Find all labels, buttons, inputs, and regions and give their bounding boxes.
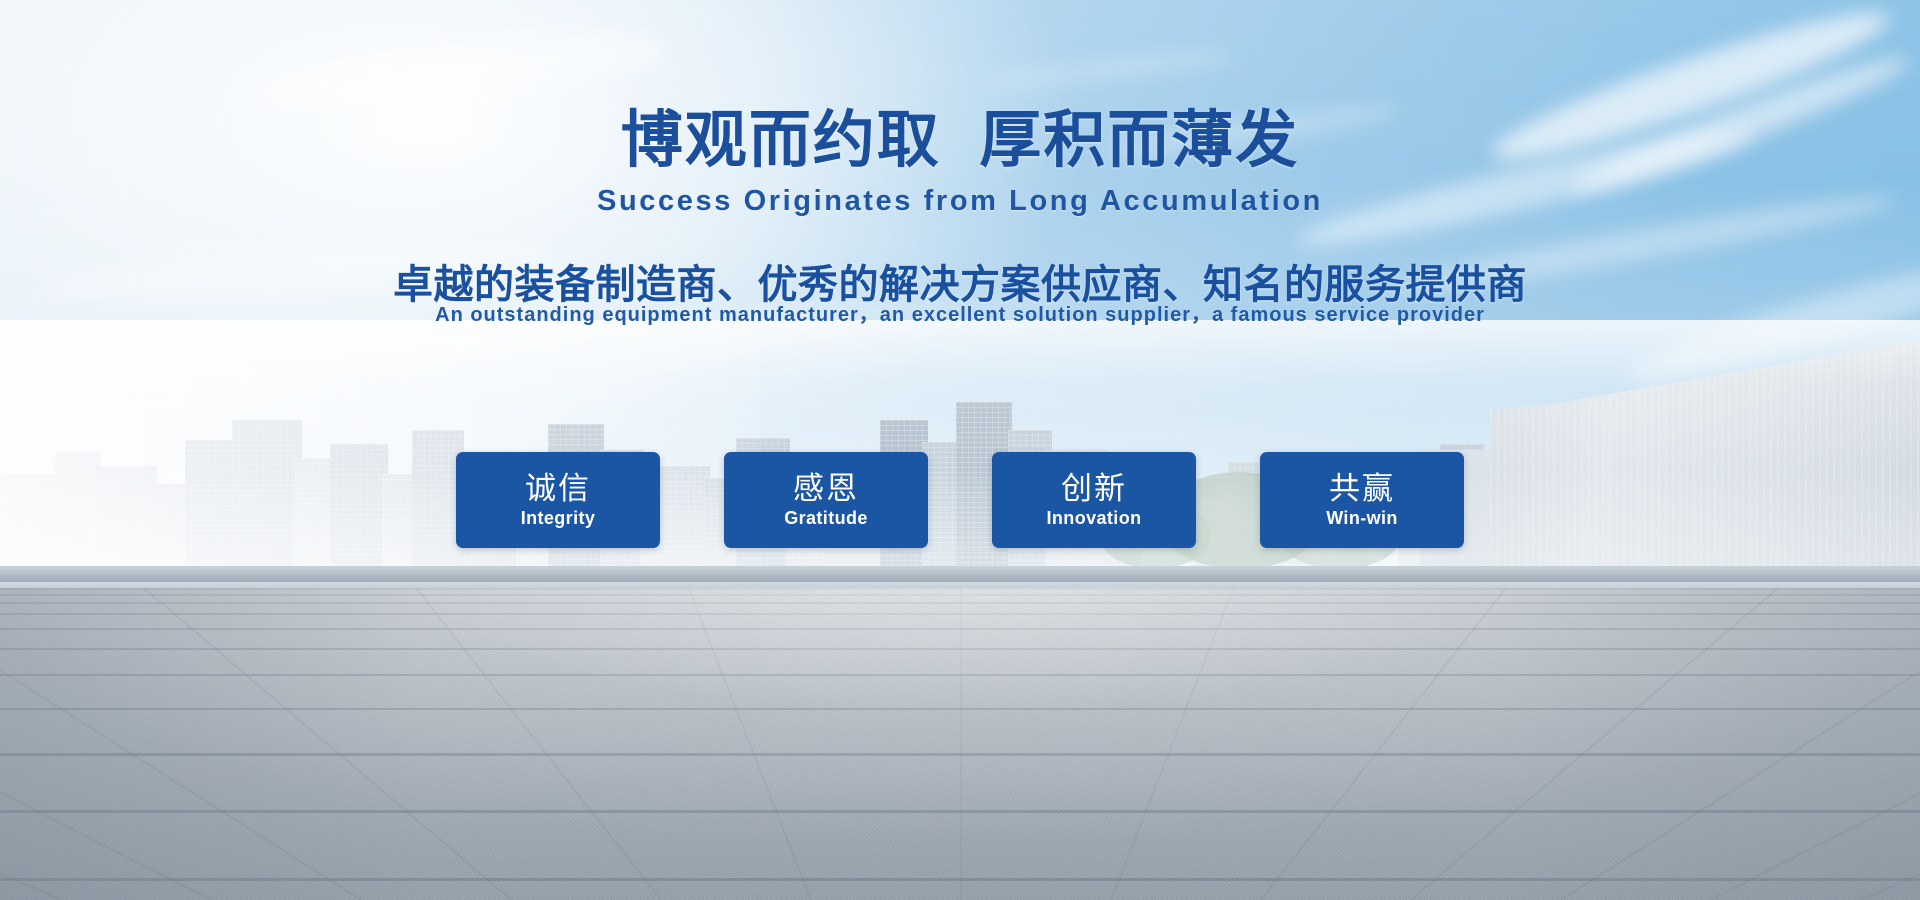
- value-label-english: Innovation: [1047, 508, 1142, 529]
- value-box-win-win[interactable]: 共赢Win-win: [1260, 452, 1464, 548]
- value-label-english: Integrity: [521, 508, 596, 529]
- value-label-chinese: 共赢: [1329, 471, 1395, 508]
- value-box-integrity[interactable]: 诚信Integrity: [456, 452, 660, 548]
- headline-english: Success Originates from Long Accumulatio…: [0, 185, 1920, 218]
- subtitle-english: An outstanding equipment manufacturer，an…: [0, 298, 1920, 327]
- hero-banner: 博观而约取 厚积而薄发 Success Originates from Long…: [0, 0, 1920, 900]
- value-label-english: Win-win: [1326, 508, 1398, 529]
- value-box-gratitude[interactable]: 感恩Gratitude: [724, 452, 928, 548]
- headline-chinese: 博观而约取 厚积而薄发: [0, 108, 1920, 173]
- value-label-english: Gratitude: [784, 508, 868, 529]
- value-label-chinese: 感恩: [793, 471, 859, 508]
- value-label-chinese: 诚信: [525, 471, 591, 508]
- value-box-innovation[interactable]: 创新Innovation: [992, 452, 1196, 548]
- banner-content: 博观而约取 厚积而薄发 Success Originates from Long…: [0, 0, 1920, 900]
- core-values-list: 诚信Integrity感恩Gratitude创新Innovation共赢Win-…: [0, 452, 1920, 548]
- value-label-chinese: 创新: [1061, 471, 1127, 508]
